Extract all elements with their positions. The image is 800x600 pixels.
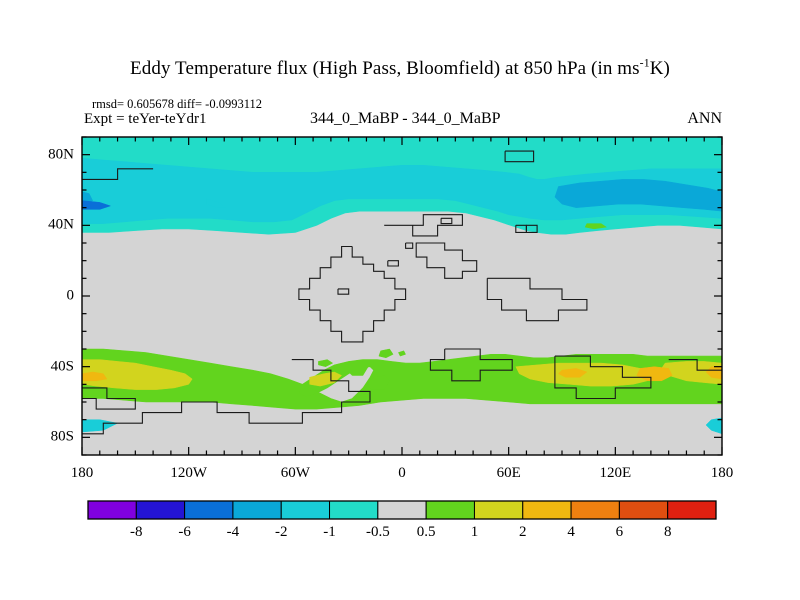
y-axis-tick-label: 0: [30, 288, 74, 305]
colorbar-cell: [185, 501, 233, 519]
colorbar-cell: [378, 501, 426, 519]
colorbar-cell: [281, 501, 329, 519]
colorbar-tick-label: 1: [471, 524, 479, 541]
colorbar-cell: [426, 501, 474, 519]
contour-field: [82, 137, 722, 455]
x-axis-tick-label: 120W: [170, 465, 207, 482]
figure-canvas: Eddy Temperature flux (High Pass, Bloomf…: [0, 0, 800, 600]
colorbar-tick-label: -1: [323, 524, 336, 541]
colorbar-cell: [668, 501, 716, 519]
colorbar-cell: [523, 501, 571, 519]
map-plot-area: [0, 0, 800, 600]
y-axis-tick-label: 80S: [30, 429, 74, 446]
x-axis-tick-label: 60W: [281, 465, 310, 482]
x-axis-tick-label: 120E: [599, 465, 631, 482]
colorbar-cell: [330, 501, 378, 519]
colorbar-cell: [233, 501, 281, 519]
colorbar-cell: [474, 501, 522, 519]
colorbar-cell: [571, 501, 619, 519]
colorbar-tick-label: 6: [616, 524, 624, 541]
colorbar-tick-label: 2: [519, 524, 527, 541]
colorbar: [88, 501, 716, 519]
y-axis-tick-label: 80N: [30, 146, 74, 163]
colorbar-cell: [619, 501, 667, 519]
colorbar-tick-label: 8: [664, 524, 672, 541]
x-axis-tick-label: 180: [71, 465, 94, 482]
x-axis-tick-label: 60E: [497, 465, 521, 482]
colorbar-tick-label: -4: [227, 524, 240, 541]
colorbar-tick-label: 0.5: [417, 524, 436, 541]
colorbar-cell: [88, 501, 136, 519]
x-axis-tick-label: 0: [398, 465, 406, 482]
colorbar-tick-label: -8: [130, 524, 143, 541]
colorbar-tick-label: 4: [567, 524, 575, 541]
colorbar-tick-label: -6: [178, 524, 191, 541]
y-axis-tick-label: 40N: [30, 217, 74, 234]
y-axis-tick-label: 40S: [30, 358, 74, 375]
x-axis-tick-label: 180: [711, 465, 734, 482]
colorbar-cell: [136, 501, 184, 519]
colorbar-tick-label: -0.5: [366, 524, 390, 541]
colorbar-tick-label: -2: [275, 524, 288, 541]
